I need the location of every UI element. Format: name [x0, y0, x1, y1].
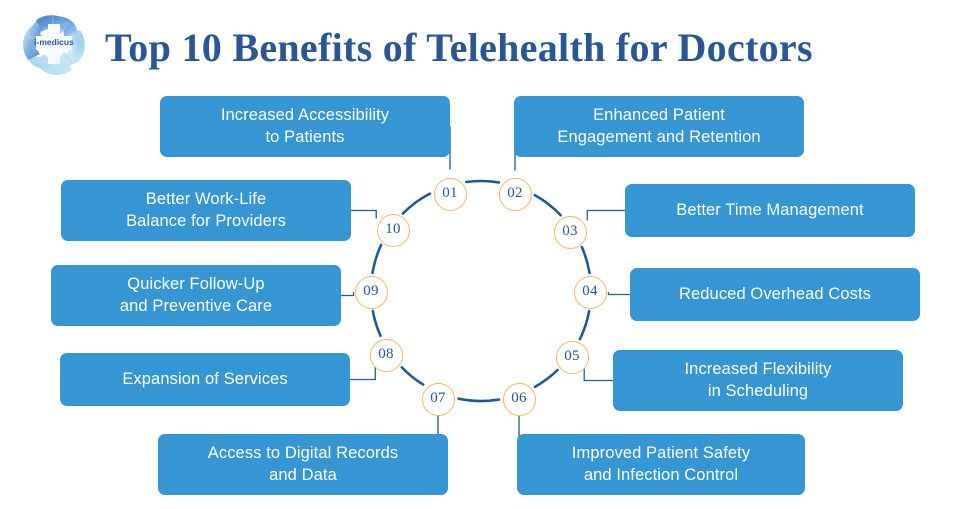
benefit-label-10: Better Work-LifeBalance for Providers [126, 189, 286, 233]
connector-08 [350, 362, 375, 379]
ring-arcs [373, 181, 590, 401]
step-number-03: 03 [562, 223, 577, 239]
benefit-label-07-line2: and Data [208, 465, 399, 487]
step-node-02[interactable]: 02 [499, 178, 532, 211]
benefit-label-09: Quicker Follow-Upand Preventive Care [120, 274, 272, 318]
i-medicus-logo: i-medicus [16, 8, 92, 80]
benefit-label-04: Reduced Overhead Costs [679, 284, 871, 306]
ring-arc-02 [535, 195, 561, 215]
connector-05 [584, 366, 613, 381]
benefit-box-08[interactable]: Expansion of Services [60, 353, 350, 406]
ring-arc-08 [373, 311, 381, 336]
benefit-box-04[interactable]: Reduced Overhead Costs [630, 268, 920, 321]
step-number-01: 01 [442, 185, 457, 201]
benefit-label-08-line1: Expansion of Services [122, 369, 287, 391]
step-node-04[interactable]: 04 [574, 276, 607, 309]
logo-pinwheel-icon: i-medicus [16, 8, 92, 80]
step-number-04: 04 [582, 283, 597, 299]
benefit-label-06-line2: and Infection Control [572, 465, 750, 487]
header: i-medicus Top 10 Benefits of Telehealth … [0, 0, 957, 88]
step-number-05: 05 [564, 348, 579, 364]
ring-arc-09 [373, 245, 382, 273]
step-node-08[interactable]: 08 [370, 339, 403, 372]
benefit-label-02: Enhanced PatientEngagement and Retention [557, 105, 760, 149]
benefit-box-07[interactable]: Access to Digital Recordsand Data [158, 434, 448, 495]
ring-arc-06 [459, 399, 499, 401]
benefits-circular-diagram: Increased Accessibilityto Patients Enhan… [0, 88, 957, 509]
benefit-label-03-line1: Better Time Management [676, 200, 863, 222]
benefit-label-01-line2: to Patients [221, 127, 389, 149]
benefit-label-03: Better Time Management [676, 200, 863, 222]
benefit-label-04-line1: Reduced Overhead Costs [679, 284, 871, 306]
step-node-05[interactable]: 05 [556, 341, 589, 374]
page-title: Top 10 Benefits of Telehealth for Doctor… [105, 22, 905, 74]
step-number-08: 08 [378, 346, 393, 362]
benefit-label-01: Increased Accessibilityto Patients [221, 105, 389, 149]
connector-10 [351, 211, 376, 219]
benefit-label-09-line2: and Preventive Care [120, 296, 272, 318]
benefit-box-02[interactable]: Enhanced PatientEngagement and Retention [514, 96, 804, 157]
step-node-09[interactable]: 09 [355, 276, 388, 309]
step-number-09: 09 [363, 283, 378, 299]
ring-arc-03 [582, 247, 590, 273]
step-number-07: 07 [430, 390, 445, 406]
benefit-label-06: Improved Patient Safetyand Infection Con… [572, 443, 750, 487]
ring-arc-04 [580, 311, 589, 339]
step-node-03[interactable]: 03 [554, 216, 587, 249]
benefit-label-09-line1: Quicker Follow-Up [120, 274, 272, 296]
step-node-10[interactable]: 10 [377, 214, 410, 247]
connector-09 [341, 292, 354, 295]
benefit-label-05-line1: Increased Flexibility [685, 359, 832, 381]
step-number-06: 06 [511, 390, 526, 406]
benefit-box-05[interactable]: Increased Flexibilityin Scheduling [613, 350, 903, 411]
step-node-06[interactable]: 06 [503, 383, 536, 416]
step-node-01[interactable]: 01 [434, 178, 467, 211]
connector-03 [587, 211, 625, 221]
benefit-box-06[interactable]: Improved Patient Safetyand Infection Con… [517, 434, 805, 495]
step-number-02: 02 [507, 185, 522, 201]
benefit-label-05-line2: in Scheduling [685, 381, 832, 403]
benefit-label-06-line1: Improved Patient Safety [572, 443, 750, 465]
benefit-label-02-line2: Engagement and Retention [557, 127, 760, 149]
benefit-box-01[interactable]: Increased Accessibilityto Patients [160, 96, 450, 157]
ring-arc-07 [402, 367, 423, 384]
step-node-07[interactable]: 07 [422, 383, 455, 416]
benefit-label-07-line1: Access to Digital Records [208, 443, 399, 465]
benefit-label-10-line1: Better Work-Life [126, 189, 286, 211]
benefit-box-10[interactable]: Better Work-LifeBalance for Providers [61, 180, 351, 241]
benefit-label-08: Expansion of Services [122, 369, 287, 391]
step-number-10: 10 [385, 221, 400, 237]
logo-wordmark: i-medicus [34, 37, 74, 47]
infographic-canvas: i-medicus Top 10 Benefits of Telehealth … [0, 0, 957, 509]
benefit-label-10-line2: Balance for Providers [126, 211, 286, 233]
ring-arc-10 [403, 194, 430, 214]
benefit-label-05: Increased Flexibilityin Scheduling [685, 359, 832, 403]
benefit-label-01-line1: Increased Accessibility [221, 105, 389, 127]
ring-arc-01 [466, 181, 499, 182]
benefit-label-02-line1: Enhanced Patient [557, 105, 760, 127]
ring-arc-05 [535, 370, 558, 387]
benefit-box-09[interactable]: Quicker Follow-Upand Preventive Care [51, 265, 341, 326]
benefit-box-03[interactable]: Better Time Management [625, 184, 915, 237]
benefit-label-07: Access to Digital Recordsand Data [208, 443, 399, 487]
connector-04 [608, 292, 630, 294]
